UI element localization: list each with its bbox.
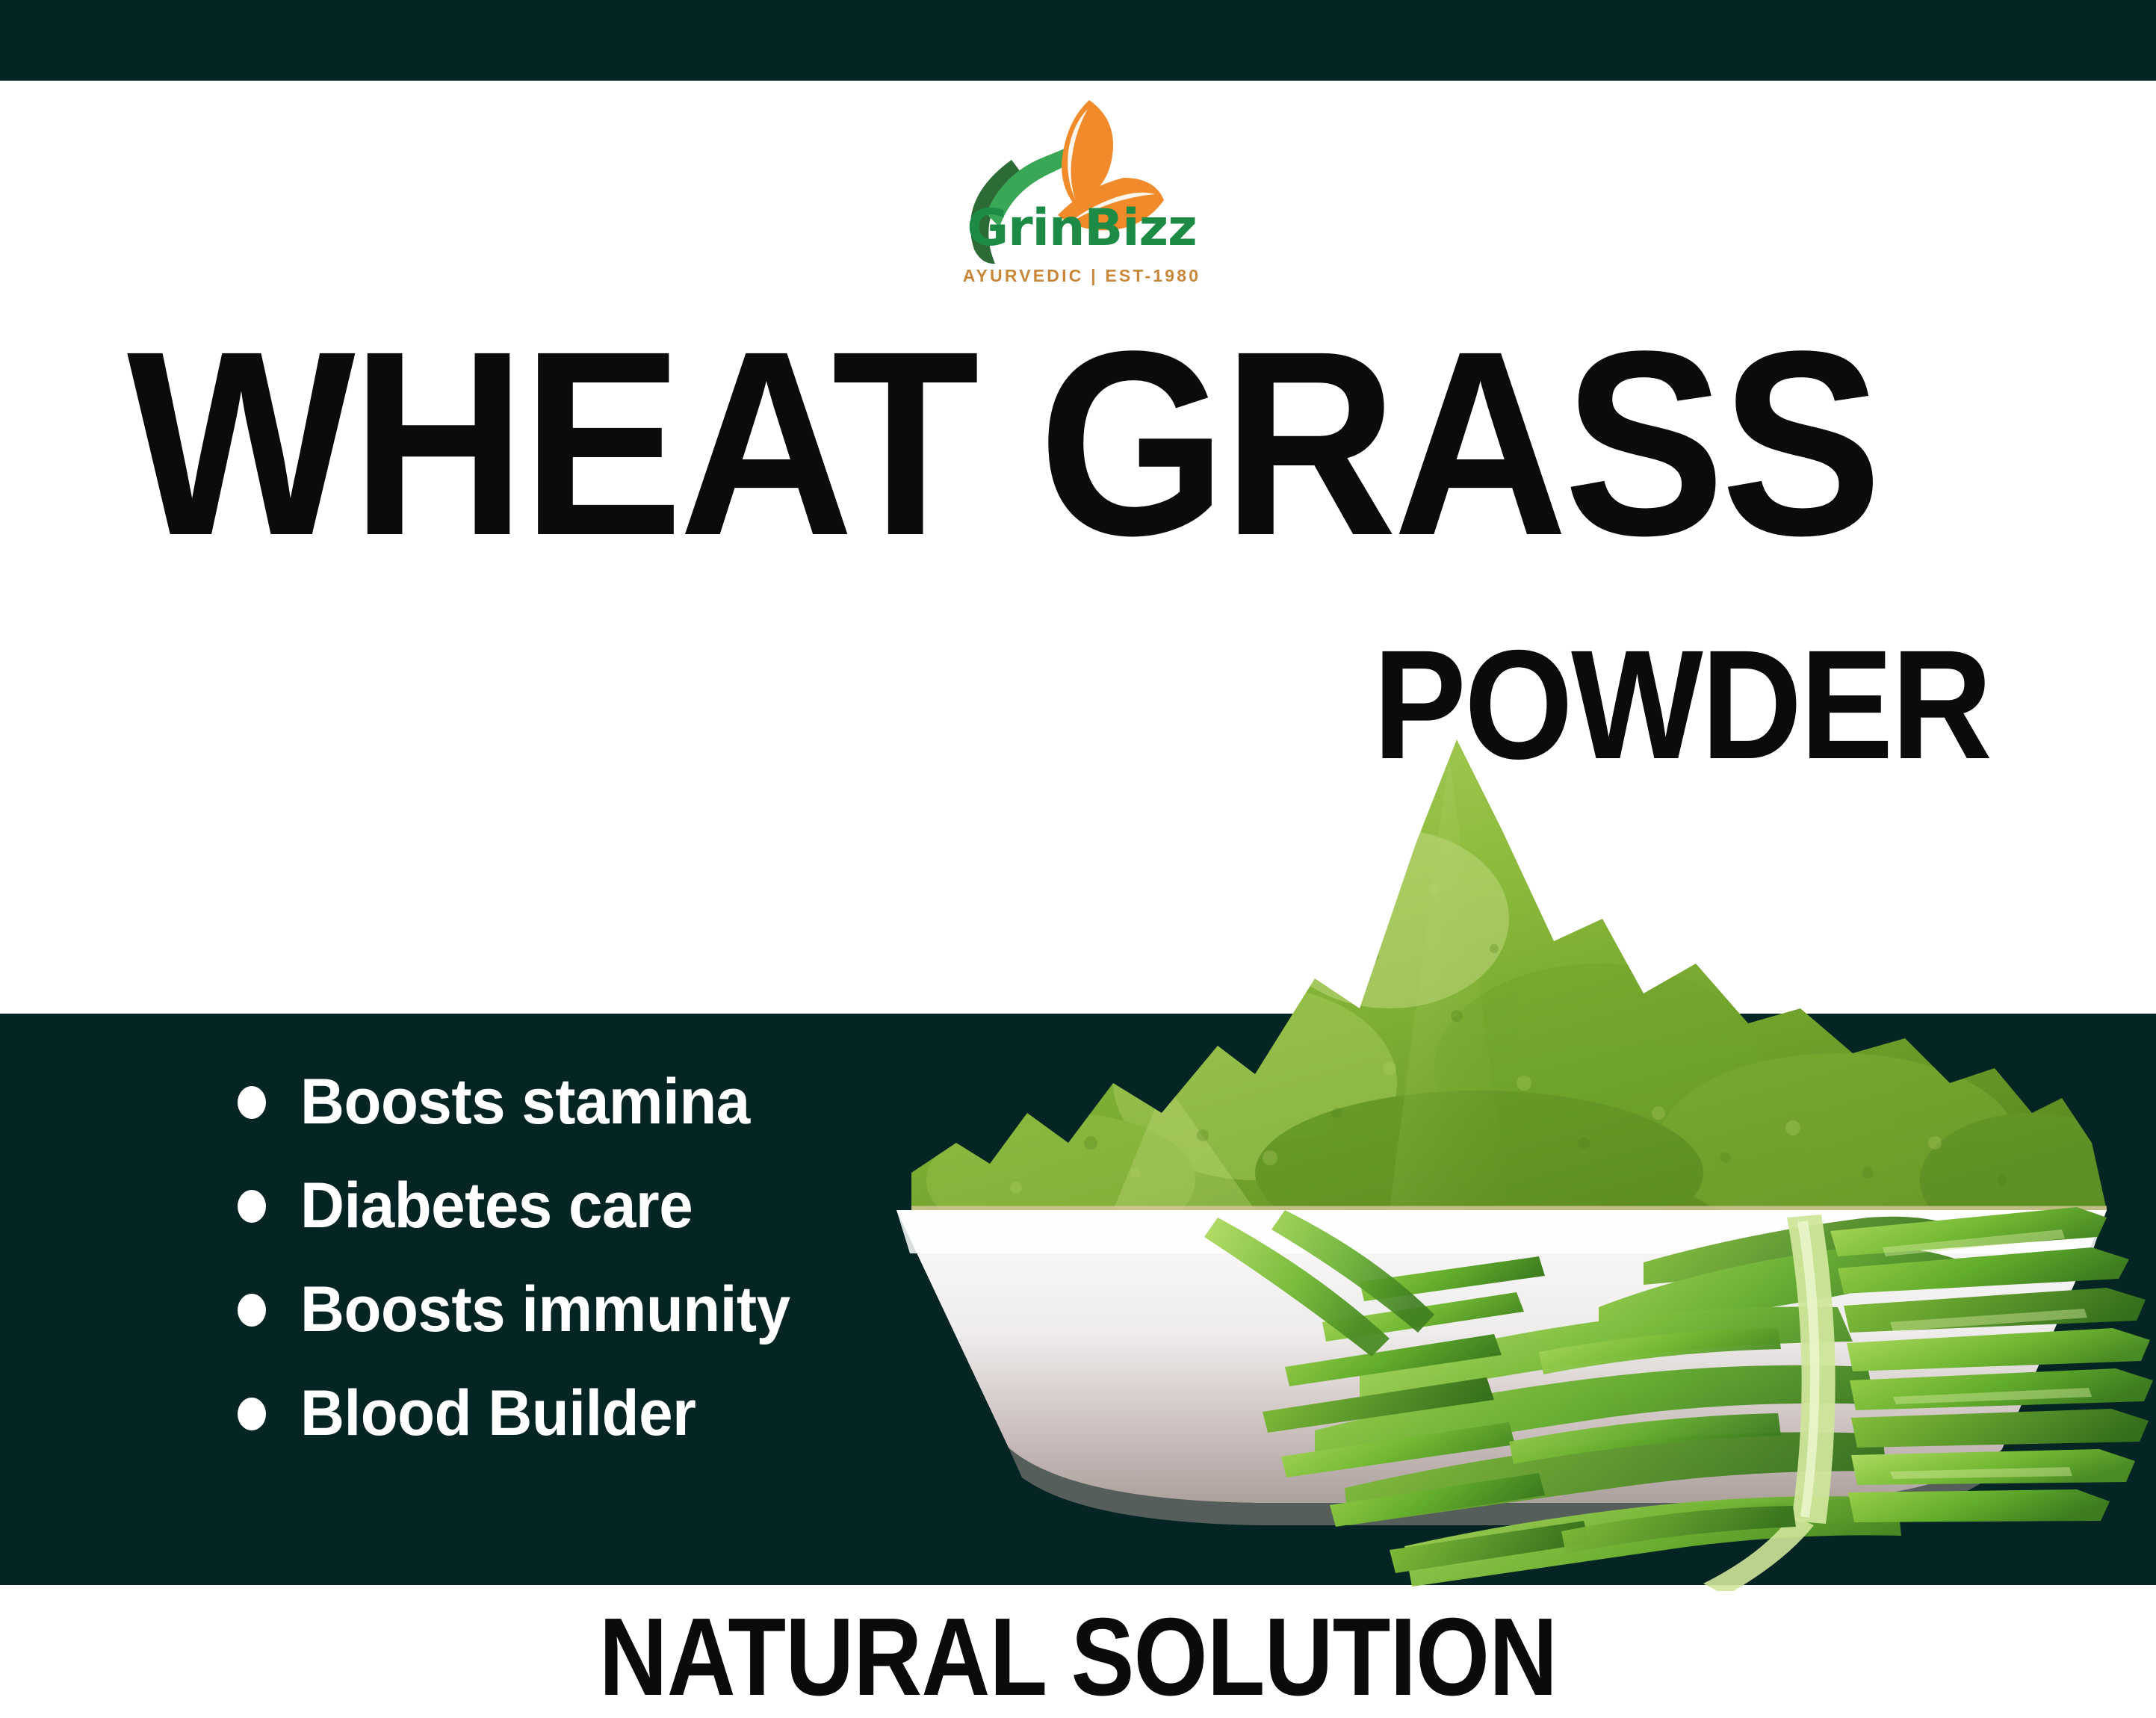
benefit-label: Diabetes care [300,1169,693,1243]
brand-wordmark: GrinBizz [940,199,1224,258]
powder-mound [911,739,2144,1255]
filled-circle-bullet-icon [238,1294,266,1327]
benefit-label: Boosts immunity [300,1273,790,1347]
brand-wordmark-text: GrinBizz [967,199,1196,258]
list-item: Boosts immunity [238,1258,1022,1362]
brand-tagline: AYURVEDIC | EST-1980 [940,266,1224,286]
filled-circle-bullet-icon [238,1190,266,1223]
benefits-list: Boosts stamina Diabetes care Boosts immu… [238,1050,1022,1466]
list-item: Diabetes care [238,1154,1022,1258]
filled-circle-bullet-icon [238,1398,266,1430]
list-item: Blood Builder [238,1362,1022,1466]
page-title: WHEAT GRASS [127,323,1886,565]
filled-circle-bullet-icon [238,1086,266,1119]
brand-logo: GrinBizz AYURVEDIC | EST-1980 [940,88,1224,320]
top-accent-band [0,0,2156,81]
list-item: Boosts stamina [238,1050,1022,1154]
product-label: GrinBizz AYURVEDIC | EST-1980 WHEAT GRAS… [0,0,2156,1718]
footer-strapline: NATURAL SOLUTION [151,1594,2005,1718]
grass-bundle [1204,1207,2153,1591]
benefit-label: Blood Builder [300,1377,696,1451]
product-photo [867,695,2156,1591]
benefit-label: Boosts stamina [300,1065,750,1139]
